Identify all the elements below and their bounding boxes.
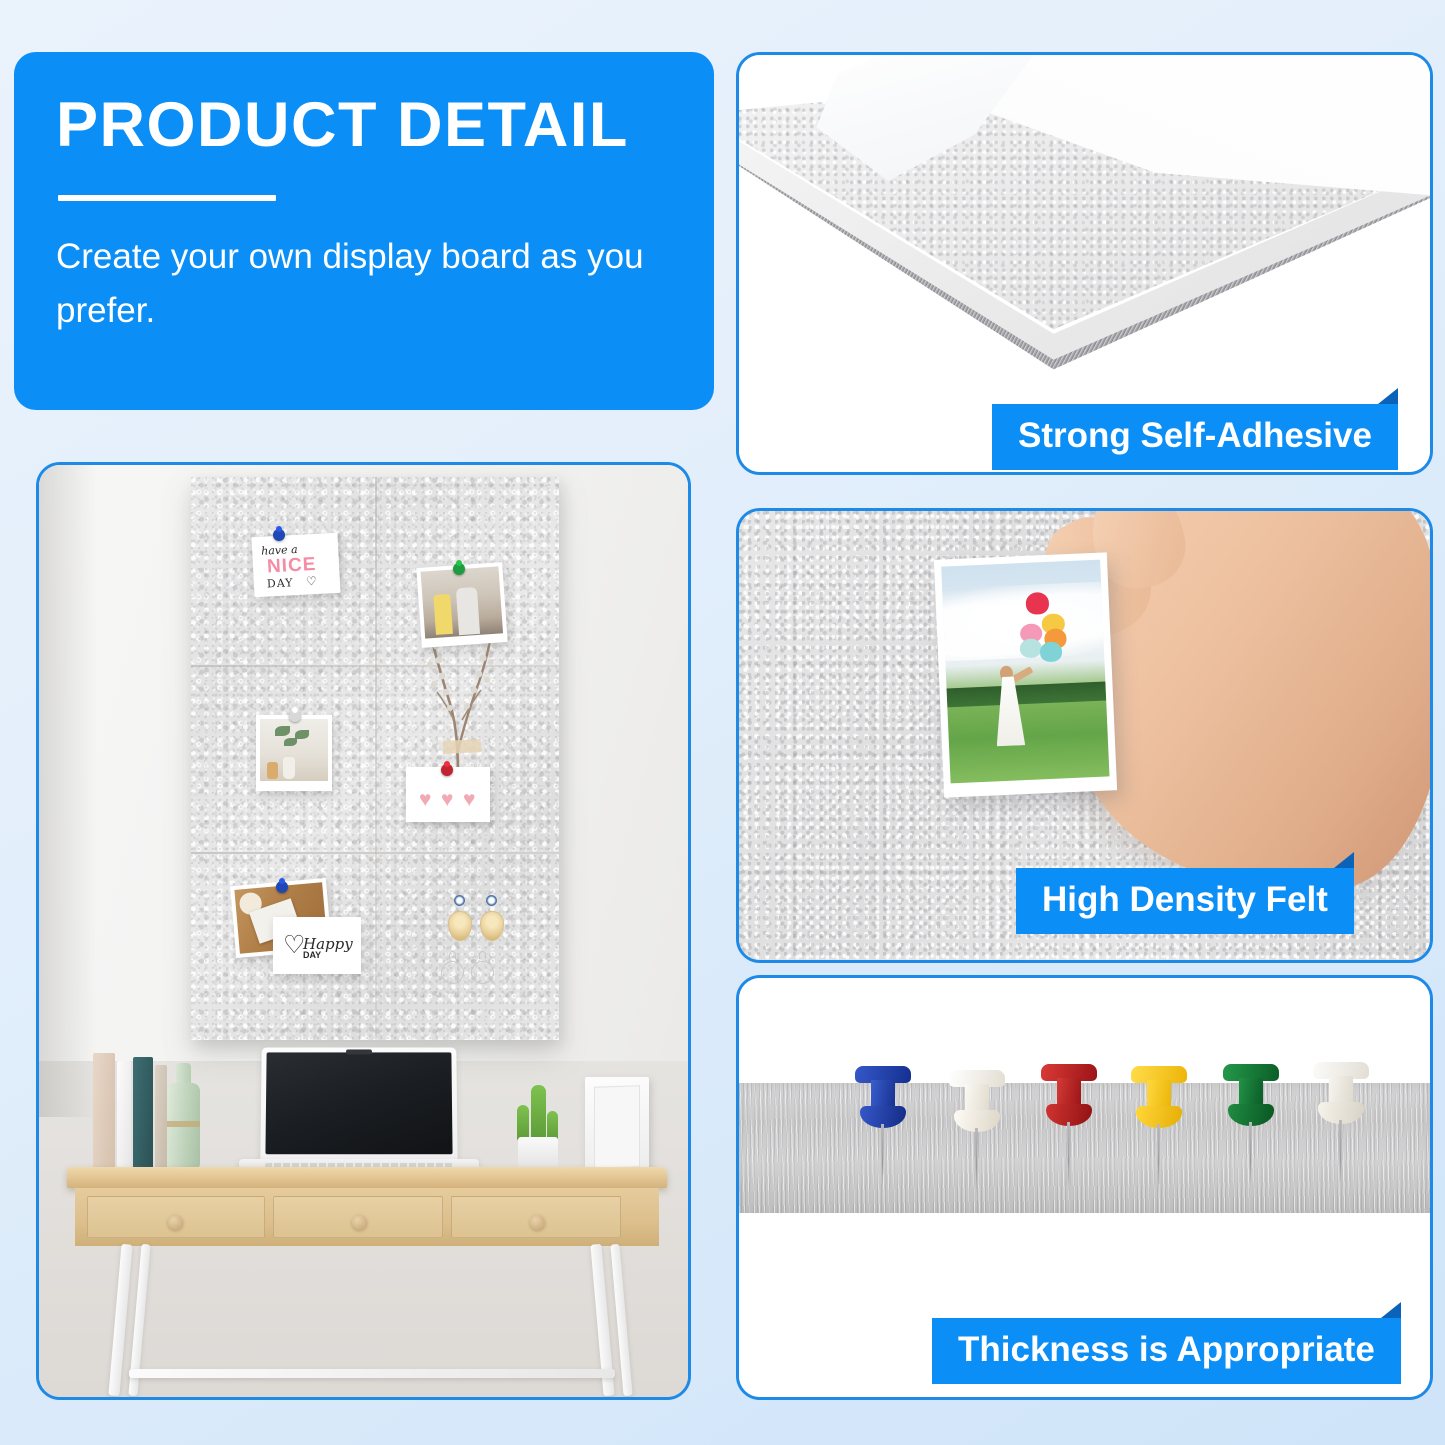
banner-high-density-felt: High Density Felt	[1016, 868, 1354, 934]
vase-white	[283, 757, 295, 778]
banner-fold-icon	[1378, 388, 1398, 404]
earring-drop-icon	[480, 911, 504, 941]
felt-board: have a NICE DAY ♡	[191, 477, 559, 1040]
picture-frame-mat	[594, 1085, 640, 1169]
laptop	[239, 1047, 479, 1187]
banner-label: High Density Felt	[1042, 880, 1328, 919]
earring-hoop-icon	[441, 961, 464, 984]
pushpin-red-icon	[441, 764, 453, 776]
earring-stud-icon	[454, 895, 465, 906]
banner-thickness-is-appropriate: Thickness is Appropriate	[932, 1318, 1401, 1384]
room-background: have a NICE DAY ♡	[39, 465, 688, 1397]
banner-strong-self-adhesive: Strong Self-Adhesive	[992, 404, 1398, 470]
bottle-vase	[167, 1063, 200, 1169]
bottle-band	[167, 1121, 200, 1127]
drawer-knob[interactable]	[168, 1215, 183, 1230]
banner-fold-icon	[1334, 852, 1354, 868]
book	[155, 1065, 167, 1169]
desk-drawer[interactable]	[451, 1196, 621, 1238]
pushpin-clear-icon	[289, 710, 301, 722]
photo-balloons-image	[942, 560, 1110, 784]
panel-lifestyle-room-scene: have a NICE DAY ♡	[36, 462, 691, 1400]
earring-stud-icon	[486, 895, 497, 906]
card-line-2: DAY	[303, 950, 321, 960]
vase-amber	[267, 762, 279, 778]
earring-hook-icon	[479, 951, 486, 959]
cactus-stem	[517, 1105, 529, 1141]
tree-line	[947, 681, 1106, 707]
cactus-stem	[531, 1085, 546, 1141]
pushpin-green-icon	[453, 563, 465, 575]
banner-label: Strong Self-Adhesive	[1018, 416, 1372, 455]
cactus-plant	[509, 1083, 567, 1175]
leaf-shape	[284, 738, 296, 747]
book	[117, 1061, 131, 1169]
photo-family	[416, 562, 507, 648]
title-underline	[58, 195, 276, 201]
desk-apron	[75, 1188, 659, 1246]
webcam-icon	[346, 1049, 372, 1054]
book	[93, 1053, 115, 1169]
board-seam-vertical	[375, 477, 377, 1040]
earrings-pair	[446, 895, 516, 995]
leaf-shape	[295, 730, 309, 739]
banner-fold-icon	[1381, 1302, 1401, 1318]
earring-drop-icon	[448, 911, 472, 941]
heart-doodle-icon: ♡	[306, 574, 317, 589]
board-seam-horizontal-1	[191, 665, 559, 667]
washi-tape	[443, 739, 482, 754]
note-nice-day: have a NICE DAY ♡	[251, 533, 340, 597]
desk-assembly	[57, 1039, 677, 1399]
drawer-knob[interactable]	[352, 1215, 367, 1230]
desk-top	[67, 1167, 667, 1188]
product-detail-hero-card: PRODUCT DETAIL Create your own display b…	[14, 52, 714, 410]
pushpin-blue-icon	[273, 529, 285, 541]
arm	[1011, 666, 1034, 683]
photo-family-image	[421, 566, 503, 638]
board-seam-horizontal-2	[191, 852, 559, 854]
balloon-cyan-icon	[1040, 642, 1063, 662]
drawer-knob[interactable]	[530, 1215, 545, 1230]
picture-frame	[585, 1077, 649, 1177]
banner-label: Thickness is Appropriate	[958, 1330, 1375, 1369]
card-happy-day: ♡ Happy DAY	[273, 917, 361, 974]
laptop-display	[265, 1052, 452, 1154]
hero-subtitle: Create your own display board as you pre…	[56, 230, 696, 339]
page-title: PRODUCT DETAIL	[56, 94, 629, 157]
laptop-screen	[260, 1047, 457, 1163]
desk-drawer[interactable]	[273, 1196, 443, 1238]
photo-flower-vase	[256, 715, 332, 791]
photo-balloons	[934, 552, 1117, 797]
earring-hook-icon	[449, 951, 456, 959]
leaf-shape	[275, 726, 290, 736]
desk-drawer[interactable]	[87, 1196, 265, 1238]
note-line-3: DAY	[267, 576, 294, 590]
desk-stretcher	[129, 1369, 615, 1378]
wall-shadow	[39, 465, 97, 1117]
heart-icon: ♥	[419, 789, 435, 804]
heart-icon: ♥	[463, 789, 479, 804]
pushpin-blue-icon	[276, 881, 288, 893]
book	[133, 1057, 153, 1169]
photo-flower-vase-image	[260, 719, 328, 781]
heart-icon: ♥	[441, 789, 457, 804]
earring-hoop-icon	[471, 961, 494, 984]
